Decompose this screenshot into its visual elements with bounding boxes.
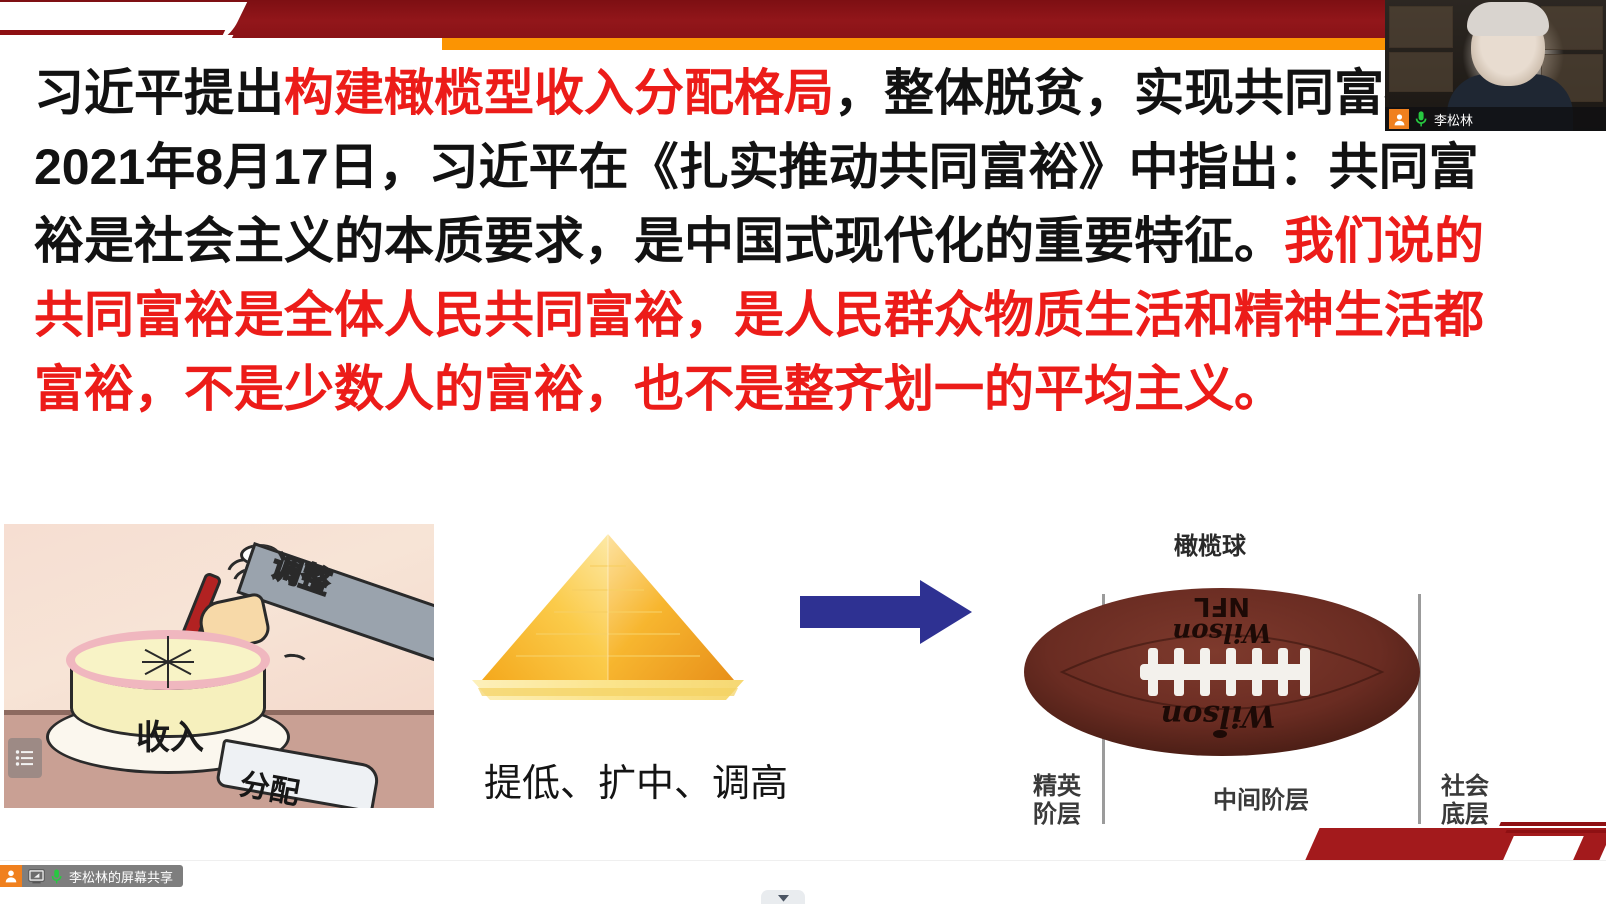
person-icon [0, 865, 22, 887]
screen-share-indicator[interactable]: 李松林的屏幕共享 [0, 865, 183, 887]
football-label-left-line1: 精英 [1018, 772, 1096, 800]
slide-bottom-stripe-1 [1499, 822, 1606, 826]
football-illustration: 橄榄球 [940, 524, 1480, 824]
slide-text-segment-2: 构建橄榄型收入分配格局 [284, 65, 834, 121]
participant-name: 李松林 [1434, 110, 1473, 129]
football-label-left: 精英 阶层 [1018, 772, 1096, 828]
cake-slice-line-4 [142, 661, 194, 663]
right-arrow-icon [800, 578, 980, 648]
participant-video-tile[interactable]: 李松林 [1385, 0, 1606, 131]
video-bookshelf-2 [1389, 52, 1453, 92]
video-bookshelf-1 [1389, 6, 1453, 48]
svg-text:NFL: NFL [1194, 591, 1250, 621]
football-label-center: 中间阶层 [1136, 786, 1386, 814]
microphone-icon [1414, 110, 1429, 129]
slide-bottom-stripe-2 [1505, 830, 1606, 833]
cake-motion-line-3 [279, 652, 309, 672]
list-icon[interactable] [8, 738, 42, 778]
pyramid-caption: 提低、扩中、调高 [466, 752, 806, 807]
video-name-bar: 李松林 [1385, 107, 1606, 131]
cake-illustration: 调整 收入 分配 [4, 524, 434, 808]
screen-share-label: 李松林的屏幕共享 [69, 867, 173, 886]
football-title: 橄榄球 [1090, 526, 1330, 561]
microphone-icon [50, 867, 64, 885]
svg-text:Wilson: Wilson [1172, 617, 1271, 647]
presentation-slide: 习近平提出构建橄榄型收入分配格局，整体脱贫，实现共同富裕。 2021年8月17日… [0, 0, 1606, 860]
football-label-left-line2: 阶层 [1018, 800, 1096, 828]
video-bookshelf-3 [1541, 6, 1603, 50]
pyramid-illustration: 提低、扩中、调高 [436, 524, 936, 816]
video-person-hair [1467, 2, 1549, 36]
football-label-right-line2: 底层 [1426, 800, 1504, 828]
slide-band-swoosh-lower [0, 35, 233, 49]
slide-text-segment-1: 习近平提出 [34, 65, 284, 121]
slide-image-row: 调整 收入 分配 [0, 524, 1606, 824]
football-label-right-line1: 社会 [1426, 772, 1504, 800]
person-icon [1389, 109, 1409, 129]
screen-share-window: 习近平提出构建橄榄型收入分配格局，整体脱贫，实现共同富裕。 2021年8月17日… [0, 0, 1606, 904]
screen-share-icon [27, 867, 45, 885]
bottom-divider [0, 860, 1606, 861]
football-icon: NFL Wilson Wilson [1022, 572, 1422, 772]
pyramid-icon [458, 530, 758, 716]
svg-text:Wilson: Wilson [1161, 698, 1276, 733]
slide-body-text: 习近平提出构建橄榄型收入分配格局，整体脱贫，实现共同富裕。 2021年8月17日… [34, 56, 1504, 426]
football-label-right: 社会 底层 [1426, 772, 1504, 828]
chevron-down-icon[interactable] [761, 890, 805, 904]
slide-bottom-notch [1502, 836, 1584, 860]
bottom-bar: 李松林的屏幕共享 [0, 860, 1606, 904]
